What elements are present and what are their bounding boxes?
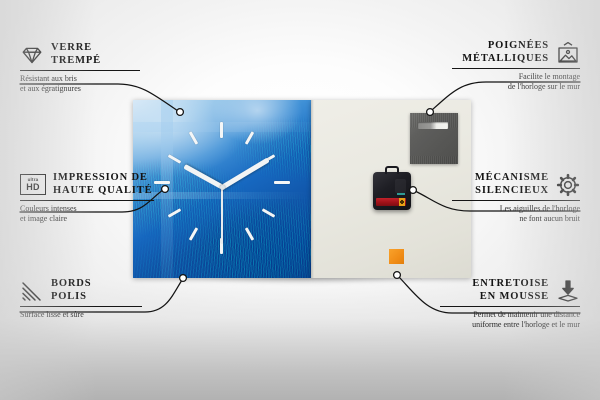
callout-title: IMPRESSION DE HAUTE QUALITÉ — [53, 172, 152, 197]
callout-poignees-metalliques[interactable]: POIGNÉES MÉTALLIQUES Facilite le montage… — [452, 40, 580, 92]
back-panel-edge — [311, 100, 314, 278]
wall-hanger-frame-icon — [556, 41, 580, 65]
diamond-icon — [20, 43, 44, 67]
callout-title: VERRE TREMPÉ — [51, 42, 101, 67]
foam-spacer — [389, 249, 404, 264]
callout-title: MÉCANISME SILENCIEUX — [475, 172, 549, 197]
callout-head: ultra HD IMPRESSION DE HAUTE QUALITÉ — [20, 172, 160, 197]
callout-head: VERRE TREMPÉ — [20, 42, 148, 67]
callout-rule — [452, 68, 580, 69]
callout-impression-haute-qualite[interactable]: ultra HD IMPRESSION DE HAUTE QUALITÉ Cou… — [20, 172, 160, 224]
mechanism-notch — [395, 179, 406, 193]
clock-center-hub — [220, 185, 225, 190]
gear-icon — [556, 173, 580, 197]
clock-tick-12 — [220, 122, 223, 138]
mechanism-hook — [385, 166, 399, 174]
callout-description: Résistant aux bris et aux égratignures — [20, 74, 148, 94]
mechanism-label-strip — [397, 193, 405, 195]
product-infographic: VERRE TREMPÉ Résistant aux bris et aux é… — [0, 0, 600, 400]
callout-rule — [20, 70, 140, 71]
callout-rule — [452, 200, 580, 201]
callout-title: POIGNÉES MÉTALLIQUES — [462, 40, 549, 65]
callout-description: Les aiguilles de l'horloge ne font aucun… — [452, 204, 580, 224]
callout-description: Surface lisse et sûre — [20, 310, 148, 320]
clock-tick-3 — [274, 181, 290, 184]
callout-description: Couleurs intenses et image claire — [20, 204, 160, 224]
metal-hanger-plate — [410, 113, 458, 164]
callout-description: Permet de maintenir une distance uniform… — [440, 310, 580, 330]
callout-title: BORDS POLIS — [51, 278, 91, 303]
ultra-hd-badge-icon: ultra HD — [20, 174, 46, 195]
battery — [376, 198, 406, 206]
callout-verre-trempe[interactable]: VERRE TREMPÉ Résistant aux bris et aux é… — [20, 42, 148, 94]
callout-rule — [440, 306, 580, 307]
glass-glare — [211, 100, 304, 146]
callout-title: ENTRETOISE EN MOUSSE — [472, 278, 549, 303]
callout-head: MÉCANISME SILENCIEUX — [452, 172, 580, 197]
callout-description: Facilite le montage de l'horloge sur le … — [452, 72, 580, 92]
reflection-vertical — [161, 100, 173, 278]
callout-rule — [20, 200, 154, 201]
down-arrow-layer-icon — [556, 279, 580, 303]
callout-rule — [20, 306, 142, 307]
callout-bords-polis[interactable]: BORDS POLIS Surface lisse et sûre — [20, 278, 148, 320]
callout-head: BORDS POLIS — [20, 278, 148, 303]
clock-second-hand — [221, 185, 223, 243]
ultra-hd-badge-main-label: HD — [26, 183, 40, 192]
quartz-mechanism — [373, 172, 411, 210]
callout-head: ENTRETOISE EN MOUSSE — [440, 278, 580, 303]
callout-head: POIGNÉES MÉTALLIQUES — [452, 40, 580, 65]
polished-edge-icon — [20, 279, 44, 303]
hanger-slot — [418, 122, 448, 129]
callout-entretoise-en-mousse[interactable]: ENTRETOISE EN MOUSSE Permet de maintenir… — [440, 278, 580, 330]
battery-positive-terminal — [399, 198, 405, 206]
callout-mecanisme-silencieux[interactable]: MÉCANISME SILENCIEUX Les aiguilles de l'… — [452, 172, 580, 224]
